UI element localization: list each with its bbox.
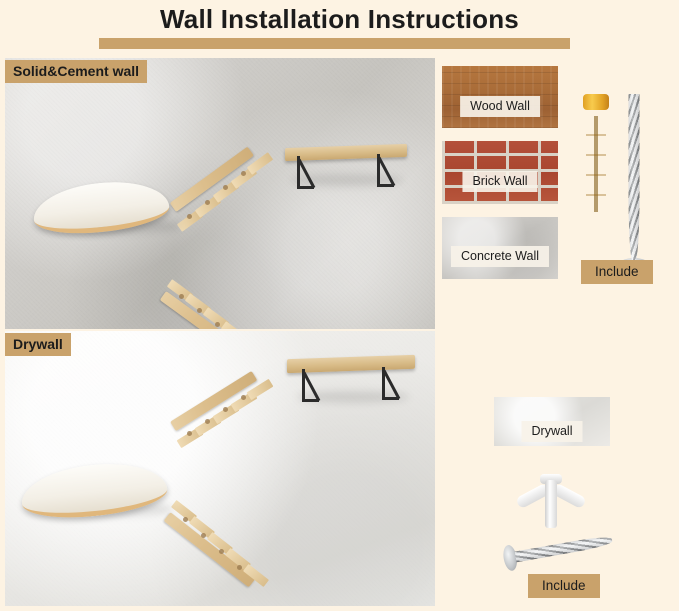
include-label-top: Include xyxy=(581,260,653,284)
concrete-wall-label: Concrete Wall xyxy=(451,246,549,267)
wood-wall-label: Wood Wall xyxy=(460,96,540,117)
white-toggle-anchor-icon xyxy=(512,472,590,532)
include-label-bottom: Include xyxy=(528,574,600,598)
page-title: Wall Installation Instructions xyxy=(0,4,679,35)
wall-type-swatches-top: Wood Wall Brick Wall Concrete Wall Inclu… xyxy=(437,58,674,329)
wood-wall-swatch: Wood Wall xyxy=(442,66,558,128)
solid-wall-photo: Solid&Cement wall xyxy=(5,58,435,329)
concrete-wall-swatch: Concrete Wall xyxy=(442,217,558,279)
yellow-plastic-wall-anchor-icon xyxy=(583,88,609,240)
drywall-swatch: Drywall xyxy=(494,397,610,446)
solid-wall-label: Solid&Cement wall xyxy=(5,60,147,83)
brick-wall-swatch: Brick Wall xyxy=(442,141,558,204)
page-header: Wall Installation Instructions xyxy=(0,0,679,56)
drywall-photo: Drywall xyxy=(5,331,435,606)
title-underline-right xyxy=(140,38,570,49)
silver-screw-icon xyxy=(494,527,617,573)
wall-type-swatches-bottom: Drywall Include xyxy=(437,331,674,606)
drywall-swatch-label: Drywall xyxy=(522,421,583,442)
brick-wall-label: Brick Wall xyxy=(462,171,537,192)
drywall-label: Drywall xyxy=(5,333,71,356)
